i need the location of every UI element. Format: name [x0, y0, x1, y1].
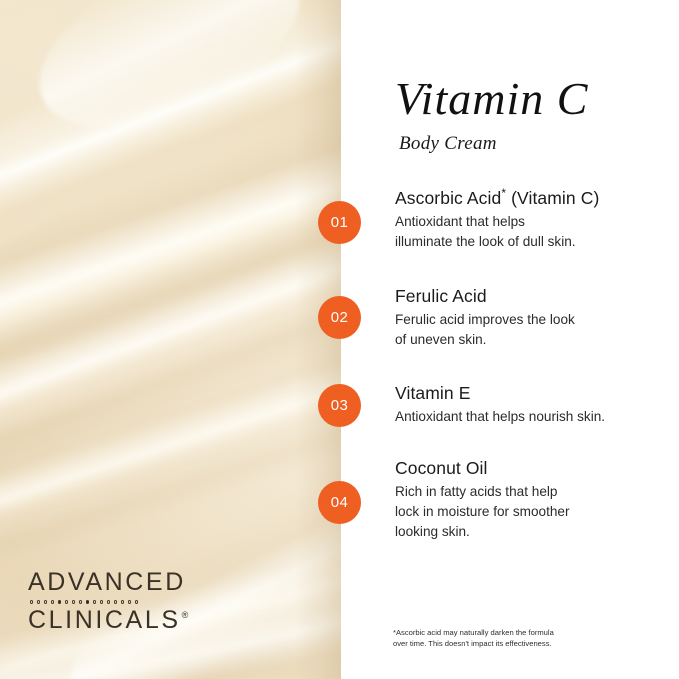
brand-logo-line-1: ADVANCED — [28, 570, 187, 596]
logo-divider-dot — [79, 600, 82, 603]
footnote-line: over time. This doesn't impact its effec… — [393, 639, 552, 648]
product-infographic: ADVANCED CLINICALS® Vitamin C Body Cream… — [0, 0, 679, 679]
ingredient-description-line: lock in moisture for smoother — [395, 504, 570, 519]
ingredient-description-line: illuminate the look of dull skin. — [395, 234, 576, 249]
ingredient-description-line: Rich in fatty acids that help — [395, 484, 557, 499]
ingredient-name-text: Coconut Oil — [395, 458, 488, 478]
logo-divider-dot — [121, 600, 124, 603]
logo-divider-dot — [100, 600, 103, 603]
ingredient-description-line: of uneven skin. — [395, 332, 486, 347]
footnote: *Ascorbic acid may naturally darken the … — [393, 627, 643, 650]
logo-divider-dot — [37, 600, 40, 603]
ingredient-name-suffix: (Vitamin C) — [506, 188, 599, 208]
ingredient-name: Ascorbic Acid* (Vitamin C) — [395, 188, 673, 209]
logo-divider-dot — [86, 600, 89, 603]
ingredient-name-text: Vitamin E — [395, 383, 470, 403]
footnote-line: *Ascorbic acid may naturally darken the … — [393, 628, 554, 637]
ingredient-name: Vitamin E — [395, 383, 673, 404]
logo-divider-dot — [107, 600, 110, 603]
ingredient-name: Ferulic Acid — [395, 286, 673, 307]
ingredient-name-text: Ferulic Acid — [395, 286, 487, 306]
ingredient-description: Antioxidant that helps nourish skin. — [395, 407, 673, 427]
brand-logo-line-2: CLINICALS® — [28, 608, 187, 634]
logo-divider-dot — [114, 600, 117, 603]
ingredient-list: Ascorbic Acid* (Vitamin C) Antioxidant t… — [341, 0, 679, 679]
ingredient-description-line: Antioxidant that helps — [395, 214, 525, 229]
ingredient-badge-01: 01 — [318, 201, 361, 244]
ingredient-description-line: Antioxidant that helps nourish skin. — [395, 409, 605, 424]
ingredient-description: Rich in fatty acids that help lock in mo… — [395, 482, 673, 542]
logo-divider-dot — [51, 600, 54, 603]
registered-trademark-icon: ® — [182, 610, 189, 620]
brand-logo-line-2-text: CLINICALS — [28, 606, 181, 634]
logo-divider-dot — [93, 600, 96, 603]
ingredient-name-text: Ascorbic Acid — [395, 188, 501, 208]
logo-divider-dot — [30, 600, 33, 603]
ingredient-item-ascorbic-acid: Ascorbic Acid* (Vitamin C) Antioxidant t… — [395, 188, 673, 252]
ingredient-badge-03: 03 — [318, 384, 361, 427]
logo-divider-dot — [44, 600, 47, 603]
ingredient-item-ferulic-acid: Ferulic Acid Ferulic acid improves the l… — [395, 286, 673, 350]
logo-divider-dot — [135, 600, 138, 603]
ingredient-name: Coconut Oil — [395, 458, 673, 479]
ingredient-description: Antioxidant that helps illuminate the lo… — [395, 212, 673, 252]
brand-logo: ADVANCED CLINICALS® — [28, 570, 187, 633]
ingredient-description: Ferulic acid improves the look of uneven… — [395, 310, 673, 350]
logo-divider-dot — [72, 600, 75, 603]
ingredient-item-vitamin-e: Vitamin E Antioxidant that helps nourish… — [395, 383, 673, 427]
logo-divider-dot — [65, 600, 68, 603]
logo-divider-dot — [128, 600, 131, 603]
ingredient-item-coconut-oil: Coconut Oil Rich in fatty acids that hel… — [395, 458, 673, 542]
logo-divider-dot — [58, 600, 61, 603]
ingredient-description-line: Ferulic acid improves the look — [395, 312, 575, 327]
content-panel: Vitamin C Body Cream Ascorbic Acid* (Vit… — [341, 0, 679, 679]
ingredient-badge-02: 02 — [318, 296, 361, 339]
ingredient-badge-04: 04 — [318, 481, 361, 524]
ingredient-description-line: looking skin. — [395, 524, 470, 539]
photo-edge-shading — [295, 0, 341, 679]
